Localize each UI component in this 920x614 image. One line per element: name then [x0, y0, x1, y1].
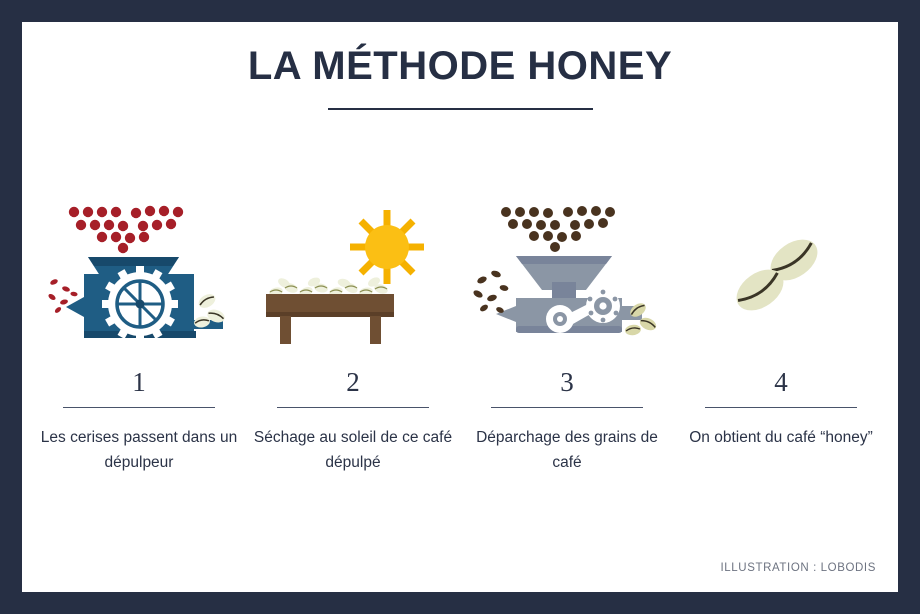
step-2-caption: Séchage au soleil de ce café dépulpé	[253, 425, 453, 475]
step-1-caption: Les cerises passent dans un dépulpeur	[39, 425, 239, 475]
husk-flecks-group	[472, 269, 509, 314]
step-2-number: 2	[346, 369, 360, 396]
step-3-number: 3	[560, 369, 574, 396]
step-3: 3 Déparchage des grains de café	[460, 202, 674, 475]
step-3-caption: Déparchage des grains de café	[467, 425, 667, 475]
infographic-frame: LA MÉTHODE HONEY	[0, 0, 920, 614]
pulper-machine-icon	[44, 202, 234, 347]
step-2-artwork	[253, 202, 453, 347]
coffee-beans-icon	[686, 202, 876, 347]
step-3-rule	[491, 407, 643, 408]
step-1-rule	[63, 407, 215, 408]
step-1: 1 Les cerises passent dans un dépulpeur	[32, 202, 246, 475]
step-4-rule	[705, 407, 857, 408]
sun-icon	[350, 210, 424, 284]
infographic-canvas: LA MÉTHODE HONEY	[22, 22, 898, 592]
title-divider	[328, 108, 593, 110]
table-leg-right	[370, 316, 381, 344]
step-4: 4 On obtient du café “honey”	[674, 202, 888, 475]
step-2: 2 Séchage au soleil de ce café dépulpé	[246, 202, 460, 475]
hopper-lip	[516, 256, 612, 264]
parchment-beans-group	[501, 206, 615, 252]
page-title: LA MÉTHODE HONEY	[22, 44, 898, 88]
table-leg-left	[280, 316, 291, 344]
step-1-number: 1	[132, 369, 146, 396]
step-4-artwork	[681, 202, 881, 347]
huller-machine-icon	[472, 202, 662, 347]
step-1-artwork	[39, 202, 239, 347]
step-2-rule	[277, 407, 429, 408]
illustration-credit: ILLUSTRATION : LOBODIS	[721, 562, 877, 574]
step-3-artwork	[467, 202, 667, 347]
drying-table-sun-icon	[258, 202, 448, 347]
steps-row: 1 Les cerises passent dans un dépulpeur	[32, 202, 888, 475]
hopper-lip	[88, 257, 179, 266]
step-4-number: 4	[774, 369, 788, 396]
coffee-cherries-group	[69, 206, 183, 253]
title-block: LA MÉTHODE HONEY	[22, 44, 898, 110]
step-4-caption: On obtient du café “honey”	[681, 425, 881, 450]
